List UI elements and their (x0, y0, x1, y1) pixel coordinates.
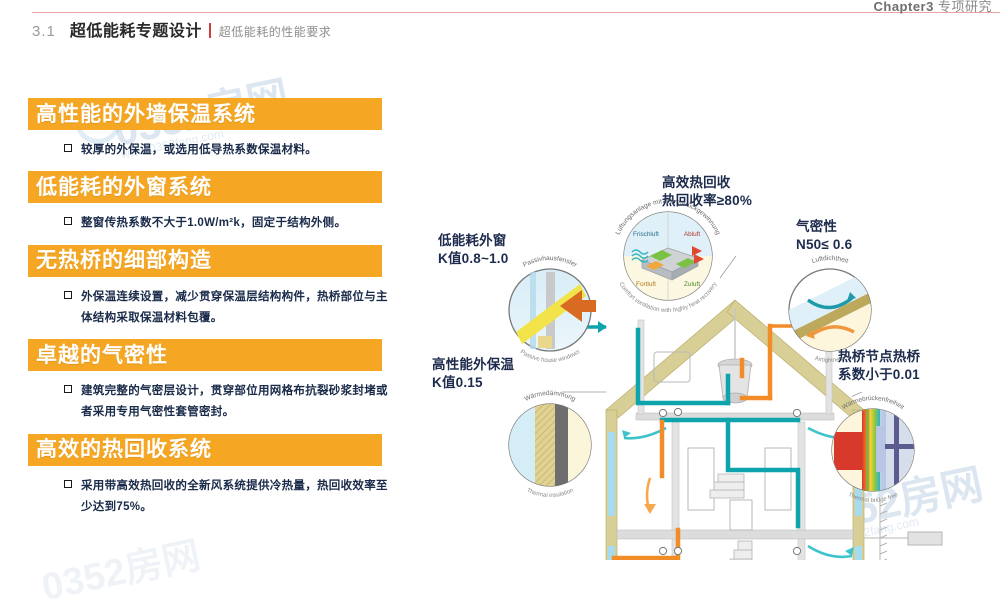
label-frischluft: Frischluft (633, 231, 659, 238)
watermark-brand-mid: 0352房网 (36, 524, 204, 611)
page-heading: 3.1 超低能耗专题设计 超低能耗的性能要求 (32, 17, 331, 41)
feature-banner-1: 高性能的外墙保温系统 (28, 98, 382, 130)
page-title: 超低能耗专题设计 超低能耗的性能要求 (70, 17, 331, 41)
bullet-square-icon (64, 480, 72, 488)
bullet-square-icon (64, 385, 72, 393)
feature-bullet-4: 建筑完整的气密层设计，贯穿部位用网格布抗裂砂浆封堵或者采用专用气密性套管密封。 (28, 377, 388, 432)
feature-banner-5: 高效的热回收系统 (28, 434, 382, 466)
label-abluft: Abluft (684, 231, 701, 238)
callout-thermal-bridge-line1: 热桥节点热桥 (838, 349, 920, 364)
feature-banner-3-label: 无热桥的细部构造 (36, 250, 212, 271)
feature-banner-4: 卓越的气密性 (28, 339, 382, 371)
feature-banner-5-label: 高效的热回收系统 (36, 439, 212, 460)
exterior-riser (864, 500, 942, 560)
feature-bullet-2: 整窗传热系数不大于1.0W/m²k，固定于结构外侧。 (28, 209, 388, 242)
passive-house-diagram: Frischluft Abluft Fortluft Zuluft Lüftun… (410, 160, 990, 560)
label-zuluft: Zuluft (684, 281, 700, 288)
circle-window-de: Passivhausfenster (522, 255, 579, 269)
feature-group-4: 卓越的气密性 建筑完整的气密层设计，贯穿部位用网格布抗裂砂浆封堵或者采用专用气密… (28, 339, 388, 432)
feature-bullet-3-text: 外保温连续设置，减少贯穿保温层结构构件，热桥部位与主体结构采取保温材料包覆。 (81, 287, 388, 330)
feature-bullet-5-text: 采用带高效热回收的全新风系统提供冷热量，热回收效率至少达到75%。 (81, 476, 388, 519)
callout-airtightness-line2: N50≤ 0.6 (796, 236, 852, 254)
circle-ventilation-heat-recovery: Frischluft Abluft Fortluft Zuluft Lüftun… (615, 198, 722, 314)
circle-airtight-de: Luftdichtheit (811, 255, 849, 265)
circle-passive-house-windows: Passivhausfenster Passive house windows (509, 255, 596, 364)
callout-heat-recovery-line2: 热回收率≥80% (662, 192, 752, 210)
callout-window-line2: K值0.8~1.0 (438, 250, 508, 268)
title-separator-bar (209, 23, 211, 38)
window-pane-upper-left (608, 432, 615, 516)
callout-insulation-line2: K值0.15 (432, 374, 514, 392)
callout-insulation-line1: 高性能外保温 (432, 357, 514, 372)
callout-heat-recovery: 高效热回收 热回收率≥80% (662, 174, 752, 210)
window-pane-lower-right (855, 546, 862, 560)
callout-window: 低能耗外窗 K值0.8~1.0 (438, 232, 508, 268)
feature-bullet-3: 外保温连续设置，减少贯穿保温层结构构件，热桥部位与主体结构采取保温材料包覆。 (28, 283, 388, 338)
feature-banner-2: 低能耗的外窗系统 (28, 171, 382, 203)
callout-heat-recovery-line1: 高效热回收 (662, 175, 731, 190)
chapter-number-en: Chapter3 (874, 0, 934, 14)
page-subtitle: 超低能耗的性能要求 (219, 25, 332, 39)
circle-thermal-insulation: Wärmedämmung Thermal insulation (509, 390, 592, 499)
feature-group-1: 高性能的外墙保温系统 较厚的外保温，或选用低导热系数保温材料。 (28, 98, 388, 169)
feature-bullet-5: 采用带高效热回收的全新风系统提供冷热量，热回收效率至少达到75%。 (28, 472, 388, 527)
feature-bullet-1-text: 较厚的外保温，或选用低导热系数保温材料。 (81, 140, 317, 161)
header-divider (32, 12, 1000, 13)
callout-insulation: 高性能外保温 K值0.15 (432, 356, 514, 392)
chapter-indicator: Chapter3 专项研究 (874, 0, 993, 15)
callout-airtightness-line1: 气密性 (796, 219, 837, 234)
feature-bullet-2-text: 整窗传热系数不大于1.0W/m²k，固定于结构外侧。 (81, 213, 346, 234)
label-fortluft: Fortluft (636, 281, 656, 288)
feature-banner-1-label: 高性能的外墙保温系统 (36, 104, 256, 125)
callout-airtightness: 气密性 N50≤ 0.6 (796, 218, 852, 254)
feature-bullet-4-text: 建筑完整的气密层设计，贯穿部位用网格布抗裂砂浆封堵或者采用专用气密性套管密封。 (81, 381, 388, 424)
bullet-square-icon (64, 291, 72, 299)
bullet-square-icon (64, 144, 72, 152)
page-title-main: 超低能耗专题设计 (70, 23, 202, 40)
feature-group-3: 无热桥的细部构造 外保温连续设置，减少贯穿保温层结构构件，热桥部位与主体结构采取… (28, 245, 388, 338)
feature-banner-3: 无热桥的细部构造 (28, 245, 382, 277)
circle-insulation-en: Thermal insulation (525, 488, 574, 499)
section-number: 3.1 (32, 23, 56, 40)
feature-banner-2-label: 低能耗的外窗系统 (36, 177, 212, 198)
callout-thermal-bridge-line2: 系数小于0.01 (838, 366, 920, 384)
callout-window-line1: 低能耗外窗 (438, 233, 507, 248)
feature-bullet-1: 较厚的外保温，或选用低导热系数保温材料。 (28, 136, 388, 169)
feature-group-2: 低能耗的外窗系统 整窗传热系数不大于1.0W/m²k，固定于结构外侧。 (28, 171, 388, 242)
feature-group-5: 高效的热回收系统 采用带高效热回收的全新风系统提供冷热量，热回收效率至少达到75… (28, 434, 388, 527)
slide-page: 0352房网 www.0352fang.com 0352房网 www.0352f… (0, 0, 1000, 615)
feature-list: 高性能的外墙保温系统 较厚的外保温，或选用低导热系数保温材料。 低能耗的外窗系统… (28, 98, 388, 528)
chapter-label-cn: 专项研究 (938, 0, 992, 14)
callout-thermal-bridge: 热桥节点热桥 系数小于0.01 (838, 348, 920, 384)
bullet-square-icon (64, 217, 72, 225)
feature-banner-4-label: 卓越的气密性 (36, 345, 168, 366)
